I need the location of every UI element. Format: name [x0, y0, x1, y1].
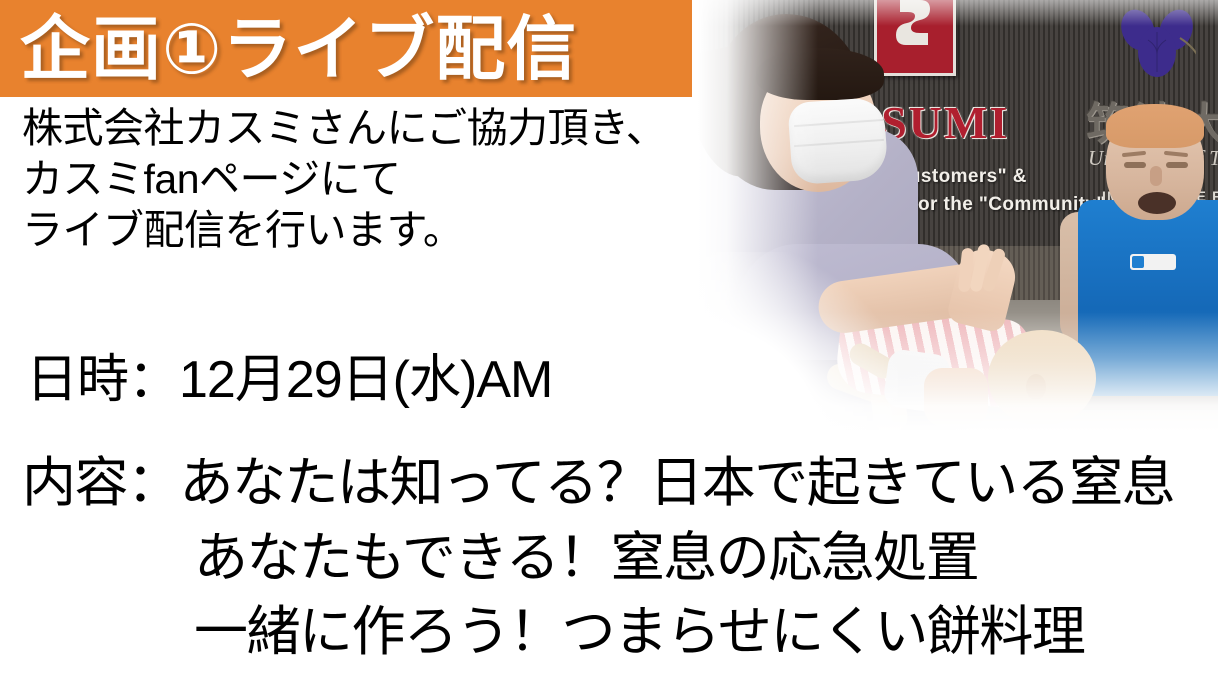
content-line-1: 内容：あなたは知ってる？日本で起きている窒息 [22, 446, 1212, 521]
adult-manikin-nose [1150, 166, 1162, 186]
demonstration-photo: ASUMI the "Customers" & For the "Communi… [698, 0, 1218, 432]
intro-line-1: 株式会社カスミさんにご協力頂き、 [22, 103, 702, 154]
adult-manikin-eye-right [1166, 162, 1188, 168]
intro-line-2: カスミfanページにて [22, 154, 702, 205]
content-block: 内容：あなたは知ってる？日本で起きている窒息 あなたもできる！窒息の応急処置 一… [22, 446, 1212, 670]
page-title: 企画①ライブ配信 [20, 14, 577, 84]
title-banner: 企画①ライブ配信 [0, 0, 692, 97]
adult-manikin-shirt-logo-mark [1132, 256, 1144, 268]
adult-manikin-hair [1106, 104, 1204, 148]
datetime-line: 日時：12月29日(水)AM [26, 352, 552, 409]
intro-paragraph: 株式会社カスミさんにご協力頂き、 カスミfanページにて ライブ配信を行います。 [22, 103, 702, 255]
photo-content: ASUMI the "Customers" & For the "Communi… [698, 0, 1218, 432]
slide-root: 企画①ライブ配信 株式会社カスミさんにご協力頂き、 カスミfanページにて ライ… [0, 0, 1218, 686]
adult-manikin-mouth [1138, 192, 1176, 214]
photo-feather-bottom-left [698, 252, 898, 432]
adult-manikin-eye-left [1124, 162, 1146, 168]
content-line-3: 一緒に作ろう！つまらせにくい餅料理 [22, 595, 1212, 670]
content-line-2: あなたもできる！窒息の応急処置 [22, 521, 1212, 596]
intro-line-3: ライブ配信を行います。 [22, 205, 702, 256]
